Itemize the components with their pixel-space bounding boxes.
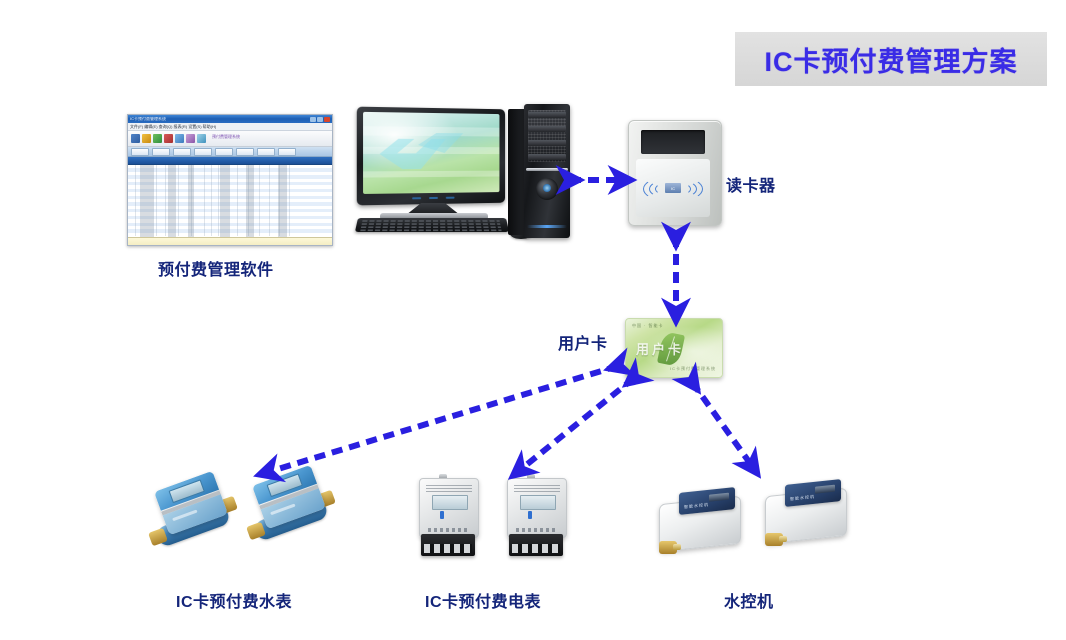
- electric-meter-unit: [415, 474, 485, 564]
- card-top-text: 中国 · 智能卡: [632, 323, 664, 329]
- table-cell: [212, 233, 219, 236]
- window-title-text: IC卡预付费管理系统: [130, 116, 166, 121]
- data-grid[interactable]: [128, 165, 332, 237]
- card-reader-touch-panel[interactable]: IC: [636, 159, 710, 217]
- data-grid-header: [128, 157, 332, 165]
- electric-meter-unit: [503, 474, 573, 564]
- table-column-shade: [140, 165, 154, 237]
- tab-item[interactable]: [194, 148, 212, 156]
- toolbar-delete-icon[interactable]: [164, 134, 173, 143]
- close-icon[interactable]: [324, 117, 330, 122]
- water-meter-group: [150, 470, 360, 580]
- monitor: [358, 108, 508, 212]
- water-meter-unit: [248, 470, 334, 550]
- connector-card-to-electric-meter: [520, 378, 634, 470]
- monitor-screen: [363, 112, 499, 194]
- controller-panel-text: 智能水控机: [790, 494, 815, 503]
- table-cell: [128, 233, 136, 236]
- table-column-shade: [168, 165, 176, 237]
- label-water-meter: IC卡预付费水表: [176, 588, 292, 612]
- toolbar-query-icon[interactable]: [186, 134, 195, 143]
- computer-tower: [508, 104, 570, 238]
- tower-led-icon: [527, 225, 567, 228]
- diagram-canvas: IC卡预付费管理方案 IC卡预付费管理系统 文件(F) 编辑(E) 查询(Q) …: [0, 0, 1066, 640]
- monitor-bezel: [357, 107, 505, 206]
- tab-item[interactable]: [215, 148, 233, 156]
- minimize-icon[interactable]: [310, 117, 316, 122]
- toolbar-print-icon[interactable]: [175, 134, 184, 143]
- tab-item[interactable]: [173, 148, 191, 156]
- title-body: 卡预付费管理方案: [794, 47, 1018, 78]
- water-meter-unit: [150, 476, 236, 556]
- label-card-reader: 读卡器: [726, 172, 776, 196]
- water-controller-group: 智能水控机 智能水控机: [655, 478, 875, 578]
- card-bottom-text: IC卡预付费管理系统: [670, 366, 716, 372]
- title-prefix: IC: [765, 47, 794, 77]
- desktop-computer: [358, 104, 588, 244]
- prepaid-management-software-window[interactable]: IC卡预付费管理系统 文件(F) 编辑(E) 查询(Q) 报表(R) 设置(S)…: [127, 114, 333, 246]
- connector-card-to-water-controller: [692, 382, 752, 466]
- table-column-shade: [278, 165, 287, 237]
- card-reader-body: IC: [628, 120, 722, 226]
- tower-front-panel: [524, 104, 570, 238]
- card-reader[interactable]: IC: [628, 120, 720, 224]
- tab-item[interactable]: [131, 148, 149, 156]
- connector-card-to-water-meter: [268, 366, 618, 472]
- page-title: IC卡预付费管理方案: [765, 40, 1018, 79]
- electric-meter-group: [415, 466, 605, 576]
- maximize-icon[interactable]: [317, 117, 323, 122]
- window-menubar[interactable]: 文件(F) 编辑(E) 查询(Q) 报表(R) 设置(S) 帮助(H): [128, 123, 332, 131]
- table-column-shade: [220, 165, 230, 237]
- table-column-shade: [246, 165, 254, 237]
- tab-item[interactable]: [236, 148, 254, 156]
- card-reader-display: [641, 130, 705, 154]
- label-electric-meter: IC卡预付费电表: [425, 588, 541, 612]
- window-titlebar: IC卡预付费管理系统: [128, 115, 332, 123]
- monitor-controls[interactable]: [363, 193, 499, 203]
- status-bar-notice: [128, 237, 332, 246]
- table-row[interactable]: [128, 233, 332, 236]
- table-cell: [205, 233, 212, 236]
- tab-item[interactable]: [278, 148, 296, 156]
- water-controller-unit: 智能水控机: [655, 486, 751, 556]
- toolbar-label: 预付费管理系统: [212, 134, 240, 143]
- power-button[interactable]: [536, 178, 558, 200]
- label-prepaid-software: 预付费管理软件: [158, 256, 274, 280]
- toolbar-save-icon[interactable]: [153, 134, 162, 143]
- title-banner: IC卡预付费管理方案: [735, 32, 1047, 86]
- card-face-text: 用户卡: [636, 339, 684, 358]
- label-water-controller: 水控机: [724, 588, 774, 612]
- rfid-wave-icon: IC: [641, 175, 705, 201]
- label-user-card: 用户卡: [558, 330, 608, 354]
- window-toolbar[interactable]: 预付费管理系统: [128, 131, 332, 147]
- table-cell: [157, 233, 166, 236]
- table-column-shade: [188, 165, 194, 237]
- toolbar-open-icon[interactable]: [142, 134, 151, 143]
- controller-panel-text: 智能水控机: [684, 502, 709, 511]
- table-cell: [260, 233, 270, 236]
- keyboard: [355, 218, 509, 232]
- tab-item[interactable]: [257, 148, 275, 156]
- tab-item[interactable]: [152, 148, 170, 156]
- toolbar-user-icon[interactable]: [197, 134, 206, 143]
- toolbar-new-icon[interactable]: [131, 134, 140, 143]
- water-controller-unit: 智能水控机: [761, 478, 857, 548]
- window-tabbar[interactable]: [128, 147, 332, 157]
- user-ic-card[interactable]: 中国 · 智能卡 用户卡 IC卡预付费管理系统: [625, 318, 723, 378]
- window-controls[interactable]: [310, 117, 330, 122]
